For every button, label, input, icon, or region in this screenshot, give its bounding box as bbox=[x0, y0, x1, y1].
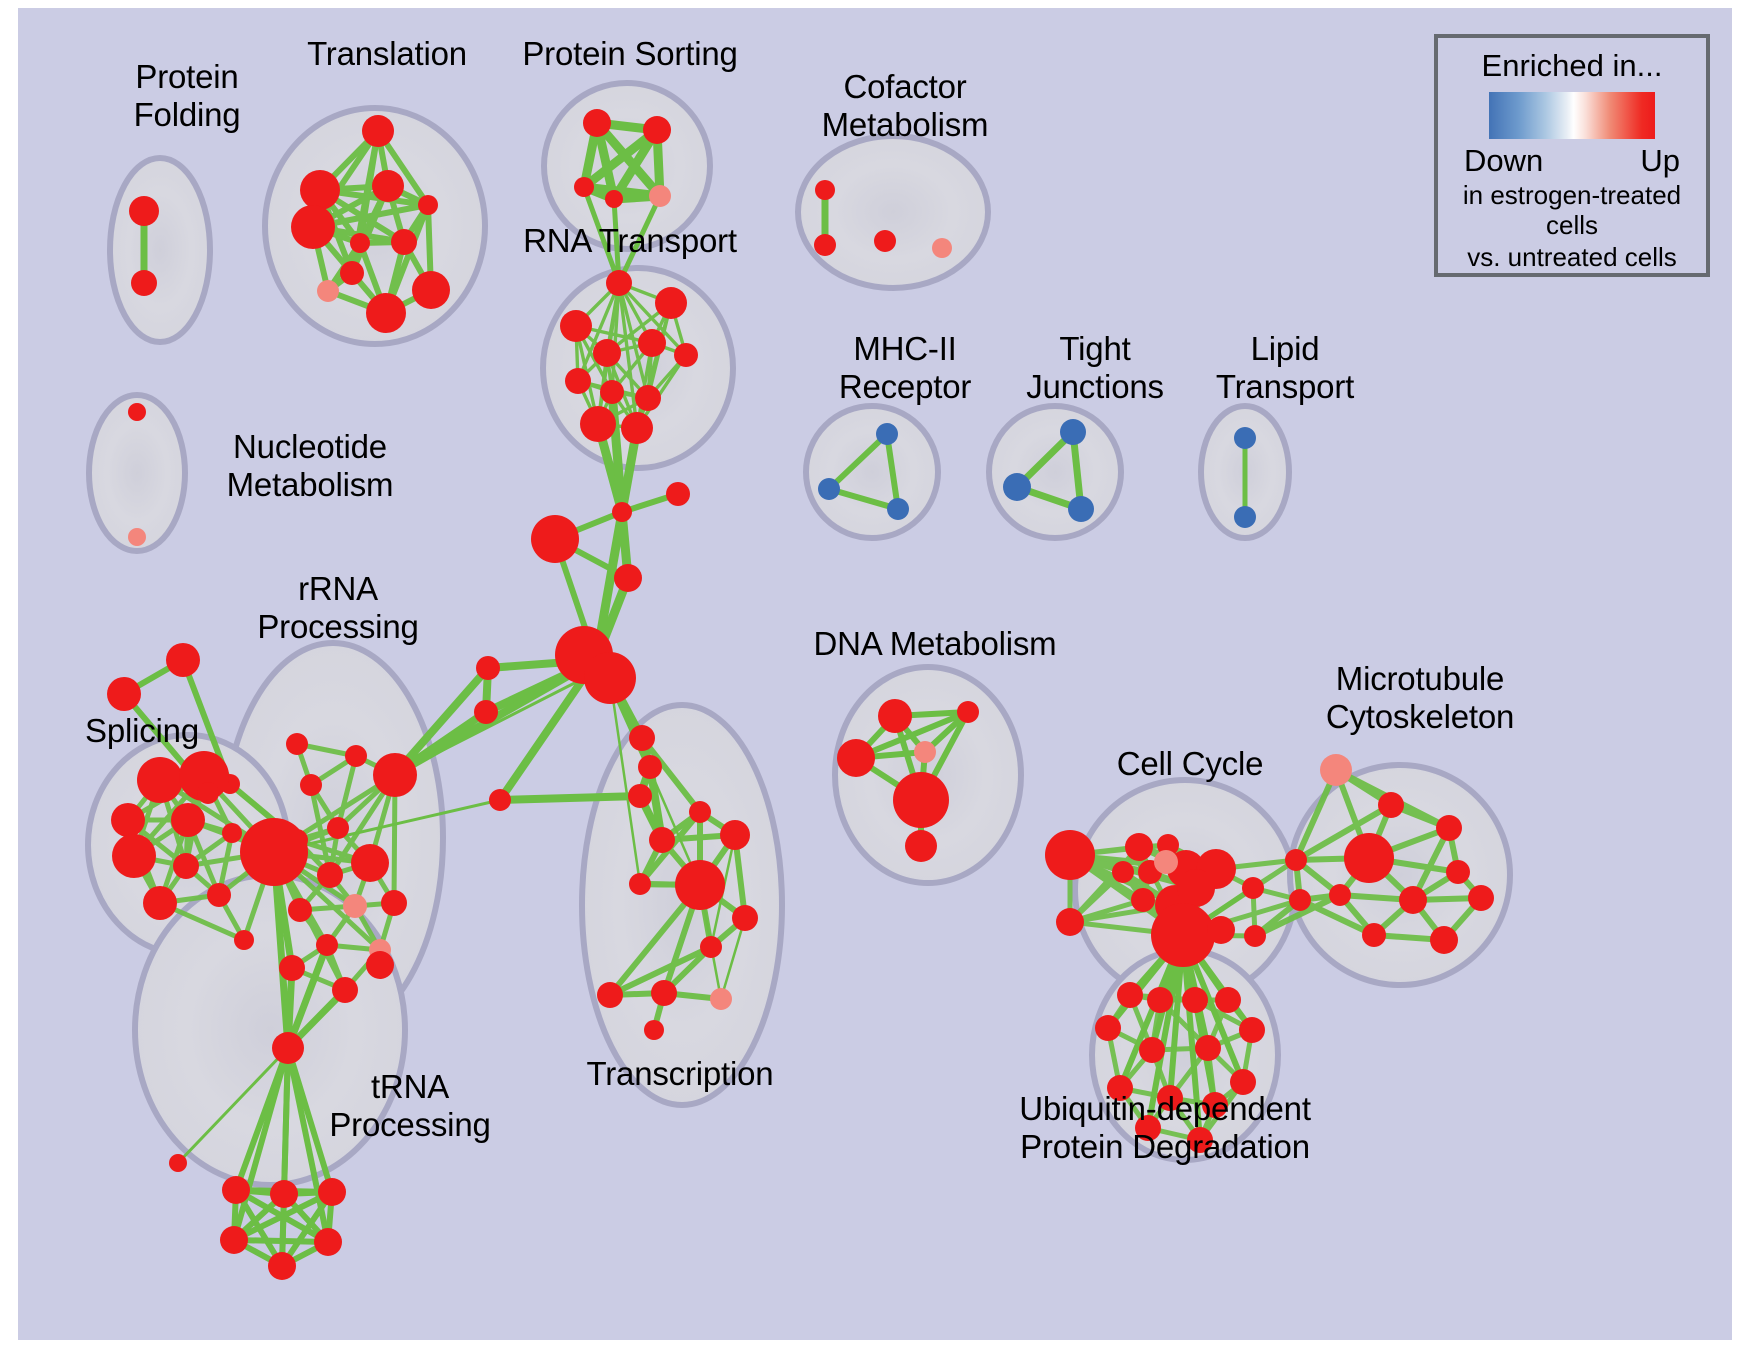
node-up bbox=[314, 1228, 342, 1256]
node-up bbox=[317, 862, 343, 888]
node-up bbox=[628, 784, 652, 808]
node-mid bbox=[649, 185, 671, 207]
node-up bbox=[649, 827, 675, 853]
node-up bbox=[878, 699, 912, 733]
cluster-label-microtubule-cytoskeleton: Microtubule Cytoskeleton bbox=[1290, 660, 1550, 735]
node-up bbox=[489, 789, 511, 811]
node-up bbox=[220, 1226, 248, 1254]
node-up bbox=[580, 406, 616, 442]
node-mid bbox=[932, 238, 952, 258]
node-down bbox=[1234, 427, 1256, 449]
node-up bbox=[606, 270, 632, 296]
node-up bbox=[1289, 889, 1311, 911]
node-up bbox=[137, 757, 183, 803]
node-up bbox=[207, 883, 231, 907]
node-up bbox=[474, 700, 498, 724]
node-down bbox=[1060, 419, 1086, 445]
halo-mhc-ii-receptor bbox=[806, 406, 938, 538]
node-up bbox=[1151, 903, 1215, 967]
cluster-label-nucleotide-metabolism: Nucleotide Metabolism bbox=[190, 428, 430, 503]
node-up bbox=[111, 803, 145, 837]
node-up bbox=[107, 677, 141, 711]
node-mid bbox=[914, 741, 936, 763]
node-up bbox=[129, 196, 159, 226]
node-up bbox=[893, 772, 949, 828]
node-up bbox=[350, 233, 370, 253]
node-up bbox=[1285, 849, 1307, 871]
legend-up-label: Up bbox=[1640, 143, 1680, 179]
node-up bbox=[874, 230, 896, 252]
node-up bbox=[272, 1032, 304, 1064]
cluster-label-splicing: Splicing bbox=[52, 712, 232, 750]
node-up bbox=[316, 934, 338, 956]
node-up bbox=[362, 115, 394, 147]
cluster-label-transcription: Transcription bbox=[560, 1055, 800, 1093]
node-up bbox=[629, 725, 655, 751]
node-up bbox=[1242, 877, 1264, 899]
node-down bbox=[876, 423, 898, 445]
node-up bbox=[1125, 833, 1153, 861]
node-up bbox=[583, 109, 611, 137]
node-up bbox=[732, 905, 758, 931]
cluster-label-rrna-processing: rRNA Processing bbox=[228, 570, 448, 645]
node-up bbox=[381, 890, 407, 916]
node-up bbox=[837, 739, 875, 777]
node-up bbox=[366, 951, 394, 979]
cluster-label-ubiquitin-protein-degradation: Ubiquitin-dependent Protein Degradation bbox=[975, 1090, 1355, 1165]
node-up bbox=[112, 834, 156, 878]
node-up bbox=[574, 177, 594, 197]
node-up bbox=[345, 745, 367, 767]
node-up bbox=[1244, 925, 1266, 947]
cluster-label-protein-sorting: Protein Sorting bbox=[500, 35, 760, 73]
node-down bbox=[818, 478, 840, 500]
node-up bbox=[169, 1154, 187, 1172]
legend-down-label: Down bbox=[1464, 143, 1543, 179]
legend-endpoint-labels: Down Up bbox=[1464, 143, 1680, 179]
node-up bbox=[340, 261, 364, 285]
halo-protein-folding bbox=[110, 158, 210, 342]
cluster-label-lipid-transport: Lipid Transport bbox=[1175, 330, 1395, 405]
node-up bbox=[675, 860, 725, 910]
halo-tight-junctions bbox=[989, 406, 1121, 538]
node-up bbox=[565, 368, 591, 394]
node-down bbox=[1234, 506, 1256, 528]
node-up bbox=[1239, 1017, 1265, 1043]
node-mid bbox=[317, 280, 339, 302]
node-up bbox=[1139, 1037, 1165, 1063]
node-up bbox=[286, 733, 308, 755]
node-up bbox=[234, 930, 254, 950]
node-up bbox=[905, 830, 937, 862]
node-up bbox=[279, 955, 305, 981]
node-up bbox=[412, 271, 450, 309]
node-up bbox=[268, 1252, 296, 1280]
cluster-label-trna-processing: tRNA Processing bbox=[300, 1068, 520, 1143]
node-up bbox=[166, 643, 200, 677]
legend-title: Enriched in... bbox=[1482, 48, 1663, 84]
node-up bbox=[674, 343, 698, 367]
legend-panel: Enriched in... Down Up in estrogen-treat… bbox=[1434, 34, 1710, 277]
node-up bbox=[666, 482, 690, 506]
node-up bbox=[1056, 908, 1084, 936]
figure-canvas: Protein Folding Translation Protein Sort… bbox=[0, 0, 1750, 1360]
legend-color-gradient-bar bbox=[1489, 92, 1655, 139]
node-up bbox=[1329, 884, 1351, 906]
legend-caption-line-1: in estrogen-treated cells bbox=[1438, 181, 1706, 241]
node-up bbox=[391, 229, 417, 255]
node-down bbox=[1003, 473, 1031, 501]
node-up bbox=[171, 803, 205, 837]
node-up bbox=[1344, 833, 1394, 883]
node-up bbox=[1195, 1035, 1221, 1061]
node-up bbox=[638, 755, 662, 779]
node-up bbox=[614, 564, 642, 592]
cluster-label-tight-junctions: Tight Junctions bbox=[985, 330, 1205, 405]
node-up bbox=[957, 701, 979, 723]
node-up bbox=[1215, 987, 1241, 1013]
node-up bbox=[1117, 982, 1143, 1008]
node-up bbox=[1446, 860, 1470, 884]
node-mid bbox=[343, 894, 367, 918]
node-up bbox=[584, 652, 636, 704]
node-up bbox=[288, 898, 312, 922]
node-up bbox=[1147, 987, 1173, 1013]
node-up bbox=[1095, 1015, 1121, 1041]
node-up bbox=[1182, 987, 1208, 1013]
node-up bbox=[222, 1176, 250, 1204]
cluster-label-protein-folding: Protein Folding bbox=[82, 58, 292, 133]
node-up bbox=[651, 980, 677, 1006]
node-up bbox=[476, 656, 500, 680]
node-up bbox=[1207, 916, 1235, 944]
node-up bbox=[1399, 886, 1427, 914]
node-up bbox=[597, 982, 623, 1008]
node-up bbox=[173, 853, 199, 879]
node-up bbox=[1378, 792, 1404, 818]
node-up bbox=[1436, 815, 1462, 841]
node-up bbox=[197, 782, 219, 804]
node-up bbox=[1131, 888, 1155, 912]
node-up bbox=[644, 1020, 664, 1040]
node-up bbox=[318, 1178, 346, 1206]
node-up bbox=[332, 977, 358, 1003]
node-up bbox=[373, 753, 417, 797]
cluster-label-cell-cycle: Cell Cycle bbox=[1090, 745, 1290, 783]
node-up bbox=[418, 195, 438, 215]
node-up bbox=[1045, 830, 1095, 880]
node-up bbox=[629, 873, 651, 895]
legend-caption-line-2: vs. untreated cells bbox=[1467, 243, 1677, 273]
cluster-label-mhc-ii-receptor: MHC-II Receptor bbox=[795, 330, 1015, 405]
node-up bbox=[366, 293, 406, 333]
node-up bbox=[270, 1180, 298, 1208]
node-up bbox=[291, 205, 335, 249]
node-up bbox=[643, 116, 671, 144]
node-up bbox=[372, 170, 404, 202]
node-down bbox=[887, 498, 909, 520]
node-down bbox=[1068, 496, 1094, 522]
node-mid bbox=[128, 528, 146, 546]
node-up bbox=[1177, 869, 1215, 907]
node-up bbox=[1430, 926, 1458, 954]
node-up bbox=[814, 234, 836, 256]
node-up bbox=[131, 270, 157, 296]
node-up bbox=[1468, 885, 1494, 911]
node-up bbox=[600, 380, 624, 404]
node-up bbox=[531, 515, 579, 563]
node-up bbox=[1362, 923, 1386, 947]
node-up bbox=[1112, 861, 1134, 883]
node-mid bbox=[1320, 754, 1352, 786]
node-up bbox=[560, 310, 592, 342]
node-up bbox=[351, 844, 389, 882]
node-up bbox=[621, 412, 653, 444]
node-up bbox=[612, 502, 632, 522]
node-up bbox=[605, 190, 623, 208]
node-up bbox=[240, 818, 308, 886]
node-up bbox=[128, 403, 146, 421]
node-up bbox=[300, 774, 322, 796]
cluster-label-translation: Translation bbox=[272, 35, 502, 73]
node-up bbox=[593, 339, 621, 367]
cluster-label-dna-metabolism: DNA Metabolism bbox=[800, 625, 1070, 663]
node-mid bbox=[1154, 850, 1178, 874]
node-up bbox=[635, 385, 661, 411]
node-up bbox=[300, 170, 340, 210]
node-mid bbox=[710, 988, 732, 1010]
cluster-label-rna-transport: RNA Transport bbox=[500, 222, 760, 260]
cluster-label-cofactor-metabolism: Cofactor Metabolism bbox=[780, 68, 1030, 143]
node-up bbox=[655, 287, 687, 319]
node-up bbox=[720, 820, 750, 850]
node-up bbox=[143, 886, 177, 920]
node-up bbox=[700, 936, 722, 958]
node-up bbox=[327, 817, 349, 839]
node-up bbox=[222, 823, 242, 843]
node-up bbox=[815, 180, 835, 200]
node-up bbox=[689, 801, 711, 823]
node-up bbox=[638, 329, 666, 357]
